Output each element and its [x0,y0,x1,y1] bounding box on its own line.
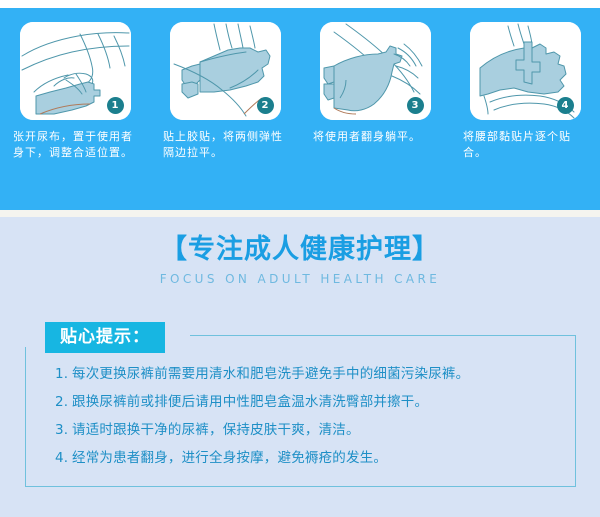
tips-list: 1.每次更换尿裤前需要用清水和肥皂洗手避免手中的细菌污染尿裤。 2.跟换尿裤前或… [55,360,565,472]
list-item: 1.每次更换尿裤前需要用清水和肥皂洗手避免手中的细菌污染尿裤。 [55,360,565,388]
step-number-badge: 4 [557,97,574,114]
step-illustration-4: 4 [470,22,581,120]
steps-row: 1 张开尿布，置于使用者身下，调整合适位置。 [0,8,600,210]
step-item-3: 3 将使用者翻身躺平。 [300,8,450,210]
list-item-number: 1. [55,360,72,388]
list-item-text: 请适时跟换干净的尿裤，保持皮肤干爽，清洁。 [72,422,360,438]
step-illustration-3: 3 [320,22,431,120]
page-subtitle: FOCUS ON ADULT HEALTH CARE [0,272,600,287]
list-item-text: 每次更换尿裤前需要用清水和肥皂洗手避免手中的细菌污染尿裤。 [72,366,469,382]
list-item-text: 跟换尿裤前或排便后请用中性肥皂盒温水清洗臀部并擦干。 [72,394,428,410]
page-title: 【专注成人健康护理】 [0,234,600,266]
step-item-1: 1 张开尿布，置于使用者身下，调整合适位置。 [0,8,150,210]
step-number-badge: 1 [107,97,124,114]
step-caption: 将使用者翻身躺平。 [313,129,437,145]
step-caption: 贴上胶贴，将两侧弹性隔边拉平。 [163,129,287,161]
list-item-number: 2. [55,388,72,416]
list-item: 2.跟换尿裤前或排便后请用中性肥皂盒温水清洗臀部并擦干。 [55,388,565,416]
list-item-text: 经常为患者翻身，进行全身按摩，避免褥疮的发生。 [72,450,387,466]
list-item: 3.请适时跟换干净的尿裤，保持皮肤干爽，清洁。 [55,416,565,444]
list-item-number: 4. [55,444,72,472]
steps-band: 1 张开尿布，置于使用者身下，调整合适位置。 [0,8,600,210]
list-item: 4.经常为患者翻身，进行全身按摩，避免褥疮的发生。 [55,444,565,472]
step-item-2: 2 贴上胶贴，将两侧弹性隔边拉平。 [150,8,300,210]
step-illustration-1: 1 [20,22,131,120]
step-caption: 将腰部黏贴片逐个贴合。 [463,129,587,161]
section-divider [0,210,600,217]
step-item-4: 4 将腰部黏贴片逐个贴合。 [450,8,600,210]
step-caption: 张开尿布，置于使用者身下，调整合适位置。 [13,129,137,161]
lower-section: 【专注成人健康护理】 FOCUS ON ADULT HEALTH CARE 贴心… [0,217,600,517]
tips-header-label: 贴心提示： [45,322,165,353]
step-number-badge: 2 [257,97,274,114]
step-number-badge: 3 [407,97,424,114]
list-item-number: 3. [55,416,72,444]
headline-block: 【专注成人健康护理】 FOCUS ON ADULT HEALTH CARE [0,234,600,287]
step-illustration-2: 2 [170,22,281,120]
